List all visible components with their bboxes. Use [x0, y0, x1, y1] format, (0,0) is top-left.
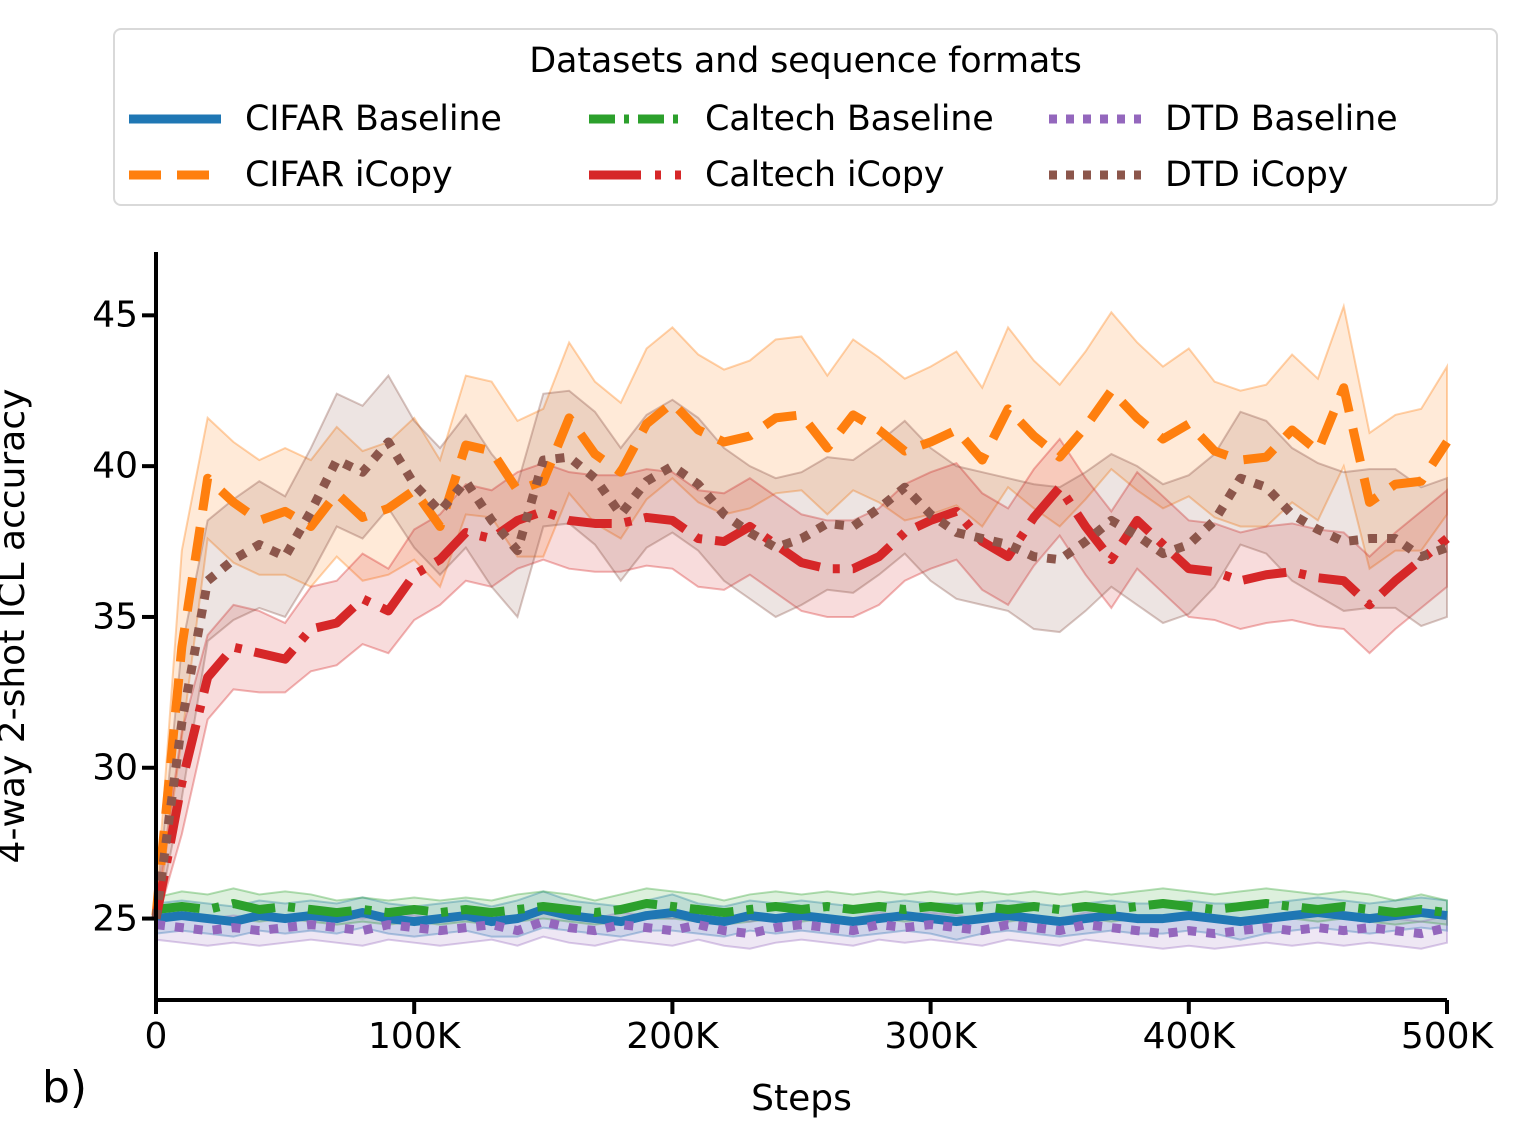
figure-panel-b: Datasets and sequence formats CIFAR Base…	[0, 0, 1524, 1148]
plot-canvas	[0, 0, 1524, 1148]
confidence-bands	[156, 306, 1447, 948]
